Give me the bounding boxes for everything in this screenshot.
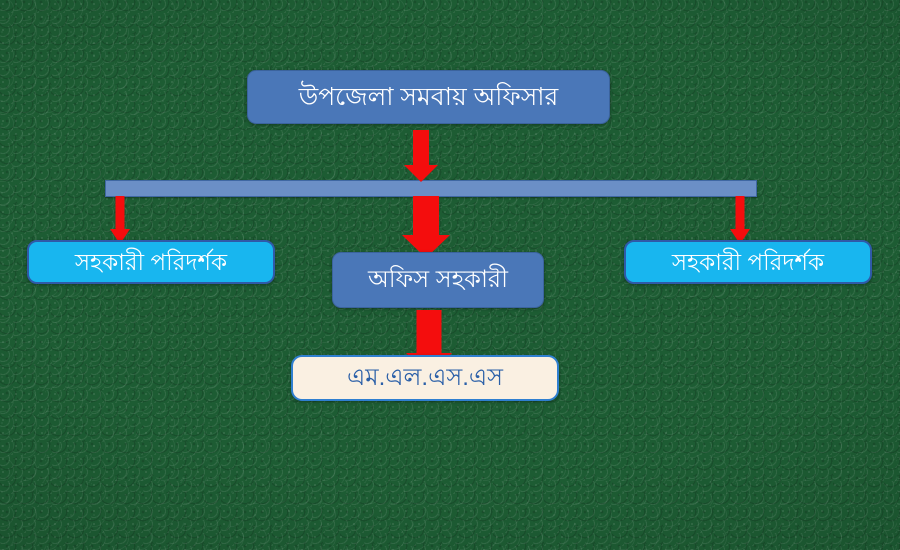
arrow-shaft [116, 196, 125, 230]
node-mlss[interactable]: এম.এল.এস.এস [291, 355, 559, 401]
arrow-down-icon-top-to-bar [404, 130, 438, 182]
arrow-shaft [413, 130, 429, 166]
arrow-shaft [417, 310, 442, 354]
node-upazila-cooperative-officer[interactable]: উপজেলা সমবায় অফিসার [247, 70, 610, 124]
node-office-assistant[interactable]: অফিস সহকারী [332, 252, 544, 308]
org-chart-canvas: উপজেলা সমবায় অফিসার সহকারী পরিদর্শক অফি… [0, 0, 900, 550]
node-assistant-inspector-right[interactable]: সহকারী পরিদর্শক [624, 240, 872, 284]
horizontal-connector-bar [105, 180, 757, 197]
arrow-down-icon-bar-to-center [402, 196, 450, 258]
arrow-head [404, 165, 438, 182]
arrow-shaft [413, 196, 439, 236]
arrow-down-icon-bar-to-left [110, 196, 130, 244]
arrow-shaft [736, 196, 745, 230]
node-assistant-inspector-left[interactable]: সহকারী পরিদর্শক [27, 240, 275, 284]
arrow-down-icon-bar-to-right [730, 196, 750, 244]
